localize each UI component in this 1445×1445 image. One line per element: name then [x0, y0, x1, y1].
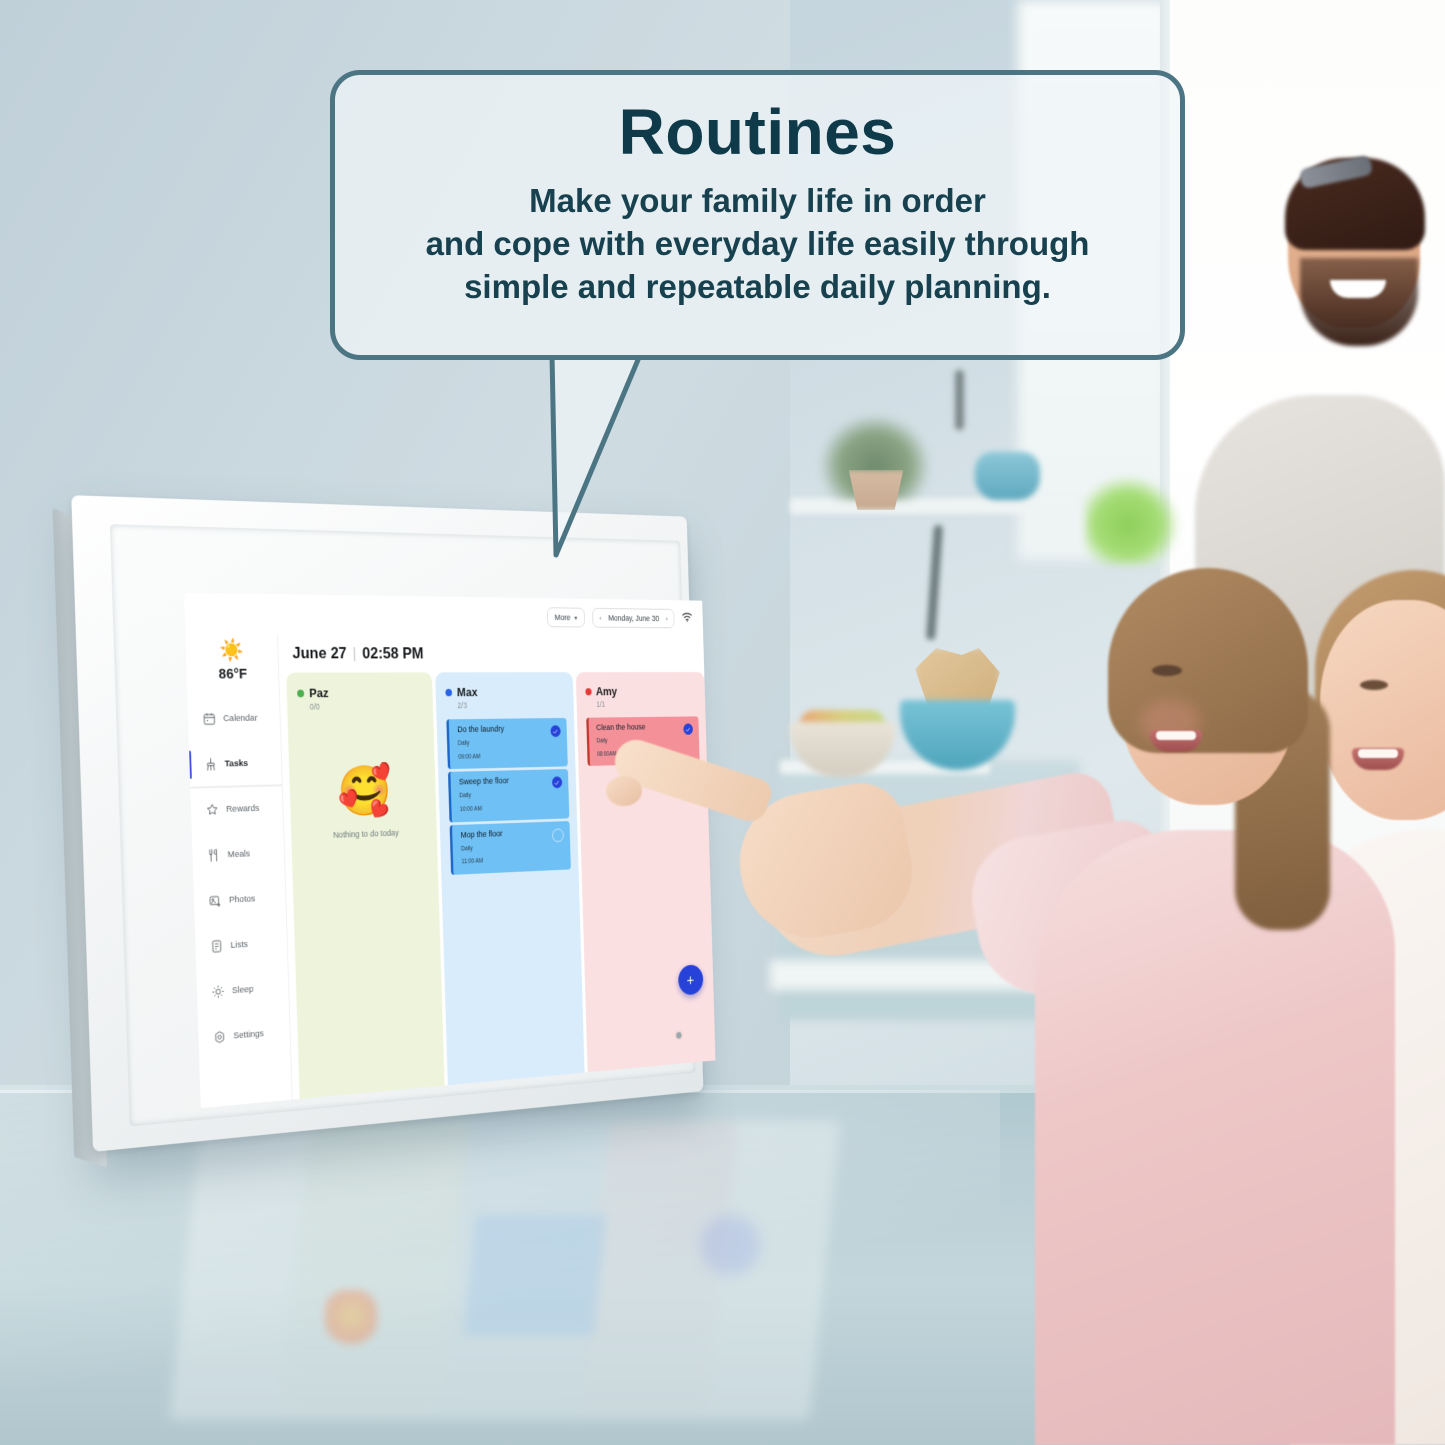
sidebar-item-label: Photos: [229, 894, 256, 906]
task-check-icon[interactable]: [683, 723, 693, 734]
member-name: Amy: [596, 685, 618, 698]
sidebar-item-settings[interactable]: Settings: [198, 1009, 291, 1061]
screen-reflection-card: [464, 1215, 607, 1335]
empty-state: 🥰 Nothing to do today: [300, 766, 429, 841]
task-repeat: Daily: [459, 789, 562, 801]
star-badge-icon: [205, 802, 219, 817]
task-check-icon[interactable]: [550, 725, 560, 737]
kitchen-shelf-upper: [790, 498, 1090, 514]
sidebar-item-calendar[interactable]: Calendar: [187, 696, 280, 742]
app-body: ☀️ 86°F Calendar: [185, 634, 715, 1108]
temperature-label: 86°F: [218, 666, 247, 682]
calendar-icon: [202, 711, 216, 726]
task-title: Sweep the floor: [459, 776, 562, 788]
green-plant: [1085, 475, 1180, 565]
sidebar: ☀️ 86°F Calendar: [185, 634, 292, 1108]
sidebar-item-label: Sleep: [232, 984, 254, 996]
sidebar-item-label: Rewards: [226, 803, 260, 815]
smart-display-device: More ▾ ‹ Monday, June 30 ›: [48, 484, 731, 1204]
subtitle-line-2: and cope with everyday life easily throu…: [365, 223, 1150, 266]
member-task-count: 0/0: [310, 701, 426, 711]
girl-fingertip: [606, 776, 642, 806]
member-header: Amy: [585, 684, 698, 698]
subtitle-line-3: simple and repeatable daily planning.: [365, 266, 1150, 309]
task-title: Do the laundry: [457, 724, 560, 734]
prev-day-button[interactable]: ‹: [599, 614, 601, 622]
member-name: Max: [457, 685, 478, 699]
header-separator: |: [352, 644, 356, 663]
page-title: Routines: [335, 99, 1180, 166]
member-dot-icon: [297, 689, 304, 697]
header-datetime: June 27 | 02:58 PM: [278, 634, 704, 672]
weather-widget: ☀️ 86°F: [218, 640, 248, 683]
girl1-body: [1035, 830, 1395, 1445]
task-time: 10:00 AM: [460, 802, 563, 814]
more-button[interactable]: More ▾: [547, 607, 586, 627]
member-column-amy[interactable]: Amy 1/1 Clean the house Daily 08:00AM: [575, 672, 715, 1072]
page-subtitle: Make your family life in order and cope …: [335, 180, 1180, 309]
girl2-teeth: [1358, 749, 1398, 758]
header-date: June 27: [292, 644, 347, 663]
sidebar-item-label: Settings: [233, 1028, 264, 1041]
task-card[interactable]: Mop the floor Daily 11:00 AM: [450, 821, 571, 875]
task-card[interactable]: Do the laundry Daily 09:00 AM: [447, 718, 568, 770]
member-column-paz[interactable]: Paz 0/0 🥰 Nothing to do today: [286, 672, 445, 1099]
sidebar-item-meals[interactable]: Meals: [192, 830, 285, 879]
add-task-button[interactable]: [678, 964, 704, 995]
member-header: Paz: [297, 685, 425, 700]
sidebar-item-lists[interactable]: Lists: [195, 920, 288, 971]
member-dot-icon: [446, 688, 453, 695]
app-topbar: More ▾ ‹ Monday, June 30 ›: [184, 593, 703, 637]
member-task-count: 2/3: [457, 700, 565, 710]
girl1-eye: [1152, 665, 1182, 676]
task-repeat: Daily: [461, 841, 564, 854]
sidebar-item-label: Tasks: [225, 758, 249, 769]
task-list: Do the laundry Daily 09:00 AM Sweep t: [447, 718, 571, 875]
current-date-label: Monday, June 30: [608, 613, 659, 622]
more-label: More: [555, 613, 571, 622]
member-header: Max: [446, 685, 566, 699]
sidebar-item-tasks[interactable]: Tasks: [189, 740, 282, 787]
task-title: Mop the floor: [461, 827, 564, 840]
member-columns: Paz 0/0 🥰 Nothing to do today: [279, 672, 715, 1100]
sidebar-item-photos[interactable]: Photos: [193, 875, 286, 925]
task-check-icon[interactable]: [552, 777, 562, 789]
member-column-max[interactable]: Max 2/3 Do the laundry Daily 09:00 AM: [435, 672, 584, 1085]
list-icon: [210, 939, 224, 954]
girl1-teeth: [1156, 731, 1196, 740]
member-dot-icon: [585, 688, 591, 695]
subtitle-line-1: Make your family life in order: [365, 180, 1150, 223]
speech-bubble-tail: [510, 355, 670, 560]
girl1-hair: [1108, 568, 1308, 753]
main-content: June 27 | 02:58 PM Paz 0/0: [278, 634, 716, 1099]
date-navigator[interactable]: ‹ Monday, June 30 ›: [592, 608, 674, 628]
next-day-button[interactable]: ›: [666, 615, 668, 623]
sun-icon: ☀️: [220, 640, 245, 661]
sidebar-item-rewards[interactable]: Rewards: [190, 785, 283, 833]
member-name: Paz: [309, 686, 329, 700]
task-title: Clean the house: [596, 723, 693, 733]
header-time: 02:58 PM: [362, 644, 424, 663]
task-time: 11:00 AM: [461, 854, 564, 867]
sidebar-item-sleep[interactable]: Sleep: [196, 965, 289, 1016]
wifi-icon: [681, 611, 692, 627]
member-task-count: 1/1: [596, 699, 698, 709]
empty-state-text: Nothing to do today: [333, 828, 399, 840]
sidebar-item-label: Meals: [227, 849, 250, 860]
plus-icon: [685, 973, 696, 987]
broom-icon: [204, 757, 218, 772]
blue-jar: [975, 452, 1040, 500]
speech-bubble: Routines Make your family life in order …: [330, 70, 1185, 360]
chevron-down-icon: ▾: [574, 613, 577, 621]
smiling-face-hearts-icon: 🥰: [337, 767, 393, 817]
task-card[interactable]: Sweep the floor Daily 10:00 AM: [448, 769, 569, 822]
hanging-utensil-upper: [955, 370, 964, 430]
task-time: 09:00 AM: [458, 751, 561, 762]
sidebar-nav: Calendar Tasks: [187, 696, 290, 1062]
screen-reflection-emoji: [325, 1290, 377, 1348]
sidebar-item-label: Calendar: [223, 713, 258, 724]
task-check-icon[interactable]: [552, 828, 564, 842]
task-repeat: Daily: [458, 738, 561, 749]
utensils-icon: [207, 848, 221, 863]
photo-add-icon: [208, 893, 222, 908]
device-frame: More ▾ ‹ Monday, June 30 ›: [71, 495, 703, 1152]
device-screen: More ▾ ‹ Monday, June 30 ›: [184, 593, 715, 1108]
screen-reflection-fab: [700, 1215, 760, 1275]
girl2-eye: [1360, 680, 1388, 690]
sidebar-item-label: Lists: [230, 939, 248, 951]
gear-icon: [213, 1029, 227, 1045]
sun-brightness-icon: [211, 984, 225, 999]
device-bezel: More ▾ ‹ Monday, June 30 ›: [110, 524, 696, 1126]
